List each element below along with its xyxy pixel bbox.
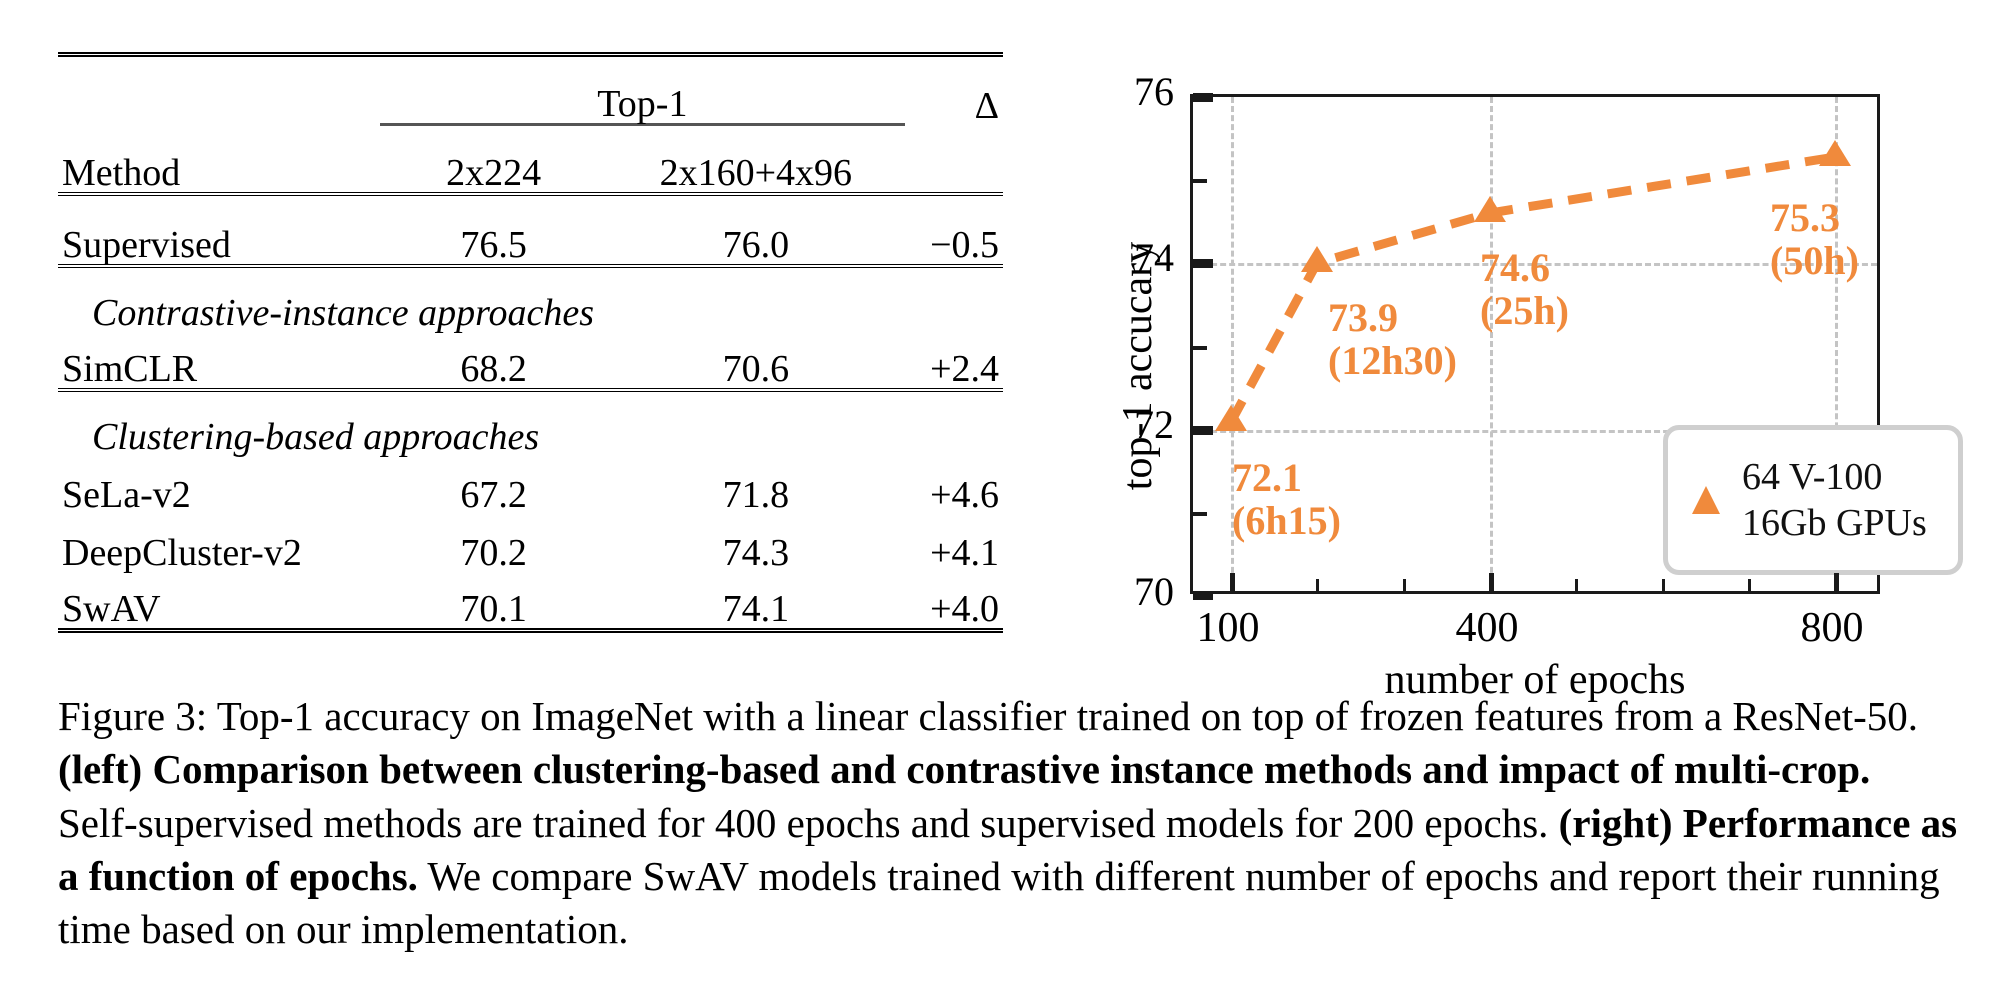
- y-tick-mark: [1193, 426, 1213, 435]
- y-tick-mark: [1193, 512, 1207, 516]
- table-group-header: Contrastive-instance approaches: [58, 274, 1003, 332]
- cell-multicrop: 74.3: [607, 514, 905, 572]
- table-row: Supervised 76.5 76.0 −0.5: [58, 202, 1003, 266]
- cell-delta: −0.5: [905, 202, 1003, 266]
- point-label-75: 75.3 (50h): [1770, 196, 1859, 282]
- span-empty-cell: [58, 63, 380, 125]
- table-group-header: Clustering-based approaches: [58, 398, 1003, 456]
- y-tick-mark: [1193, 346, 1207, 350]
- point-time: (25h): [1480, 288, 1569, 333]
- x-tick-mark: [1230, 573, 1235, 591]
- y-tick-mark: [1193, 591, 1213, 600]
- cell-method: SwAV: [58, 572, 380, 630]
- figure-caption: Figure 3: Top-1 accuracy on ImageNet wit…: [58, 690, 1958, 956]
- cell-method: DeepCluster-v2: [58, 514, 380, 572]
- point-value: 74.6: [1480, 245, 1550, 290]
- x-tick-mark: [1403, 579, 1406, 591]
- top1-span-header: Top-1: [380, 63, 904, 125]
- caption-segment-0: Figure 3: Top-1 accuracy on ImageNet wit…: [58, 693, 1918, 739]
- cell-2x224: 76.5: [380, 202, 607, 266]
- x-tick-mark: [1834, 573, 1839, 591]
- point-time: (12h30): [1328, 338, 1457, 383]
- figure-body: Top-1 Δ Method 2x224 2x160+4x96: [0, 0, 2002, 672]
- point-label-74: 74.6 (25h): [1480, 246, 1569, 332]
- table-row: DeepCluster-v2 70.2 74.3 +4.1: [58, 514, 1003, 572]
- point-value: 75.3: [1770, 195, 1840, 240]
- marker-point-800: [1819, 140, 1851, 166]
- cell-multicrop: 74.1: [607, 572, 905, 630]
- results-table: Top-1 Δ Method 2x224 2x160+4x96: [58, 52, 1003, 639]
- chart-legend: 64 V-100 16Gb GPUs: [1663, 425, 1963, 575]
- y-tick-mark: [1193, 259, 1213, 268]
- results-table-container: Top-1 Δ Method 2x224 2x160+4x96: [58, 52, 1003, 639]
- cell-2x224: 70.1: [380, 572, 607, 630]
- legend-triangle-icon: [1686, 478, 1726, 522]
- x-tick-label-800: 800: [1752, 604, 1912, 652]
- marker-point-200: [1301, 246, 1333, 272]
- table-midrule-1: [58, 194, 1003, 202]
- y-tick-mark: [1193, 179, 1207, 183]
- cell-2x224: 67.2: [380, 456, 607, 514]
- table-header-span-row: Top-1 Δ: [58, 63, 1003, 125]
- point-value: 72.1: [1232, 455, 1302, 500]
- col-header-2x224: 2x224: [380, 130, 607, 194]
- col-header-delta-blank: [905, 130, 1003, 194]
- cell-multicrop: 70.6: [607, 332, 905, 390]
- x-tick-label-400: 400: [1407, 604, 1567, 652]
- x-tick-mark: [1575, 579, 1578, 591]
- table-midrule-2: [58, 266, 1003, 274]
- table-top-rule: [58, 55, 1003, 64]
- y-tick-label-76: 76: [1108, 68, 1174, 115]
- caption-segment-2: Self-supervised methods are trained for …: [58, 800, 1559, 846]
- cell-delta: +4.6: [905, 456, 1003, 514]
- table-row: SimCLR 68.2 70.6 +2.4: [58, 332, 1003, 390]
- table-column-header-row: Method 2x224 2x160+4x96: [58, 130, 1003, 194]
- y-tick-label-72: 72: [1108, 401, 1174, 448]
- point-time: (50h): [1770, 238, 1859, 283]
- col-header-multicrop: 2x160+4x96: [607, 130, 905, 194]
- group-label: Contrastive-instance approaches: [58, 274, 1003, 332]
- cell-multicrop: 71.8: [607, 456, 905, 514]
- group-label: Clustering-based approaches: [58, 398, 1003, 456]
- cell-method: SimCLR: [58, 332, 380, 390]
- point-label-72: 72.1 (6h15): [1232, 456, 1341, 542]
- cell-2x224: 70.2: [380, 514, 607, 572]
- epochs-accuracy-chart: top-1 accucary 76 74 72 70: [1080, 56, 1980, 656]
- x-tick-mark: [1748, 579, 1751, 591]
- y-tick-label-74: 74: [1108, 234, 1174, 281]
- cell-2x224: 68.2: [380, 332, 607, 390]
- y-tick-mark: [1193, 93, 1213, 102]
- cell-delta: +2.4: [905, 332, 1003, 390]
- col-header-method: Method: [58, 130, 380, 194]
- point-time: (6h15): [1232, 498, 1341, 543]
- cell-delta: +4.0: [905, 572, 1003, 630]
- cell-method: Supervised: [58, 202, 380, 266]
- x-tick-mark: [1316, 579, 1319, 591]
- point-label-73: 73.9 (12h30): [1328, 296, 1457, 382]
- x-tick-mark: [1662, 579, 1665, 591]
- table-row: SeLa-v2 67.2 71.8 +4.6: [58, 456, 1003, 514]
- cell-delta: +4.1: [905, 514, 1003, 572]
- cell-method: SeLa-v2: [58, 456, 380, 514]
- delta-header: Δ: [905, 63, 1003, 125]
- table-bottom-rule: [58, 630, 1003, 639]
- y-axis-title: top-1 accucary: [1114, 156, 1162, 576]
- table-midrule-3: [58, 390, 1003, 398]
- table-row: SwAV 70.1 74.1 +4.0: [58, 572, 1003, 630]
- caption-segment-1: (left) Comparison between clustering-bas…: [58, 746, 1870, 792]
- x-tick-mark: [1489, 573, 1494, 591]
- cell-multicrop: 76.0: [607, 202, 905, 266]
- legend-label: 64 V-100 16Gb GPUs: [1742, 454, 1927, 547]
- x-tick-label-100: 100: [1148, 604, 1308, 652]
- point-value: 73.9: [1328, 295, 1398, 340]
